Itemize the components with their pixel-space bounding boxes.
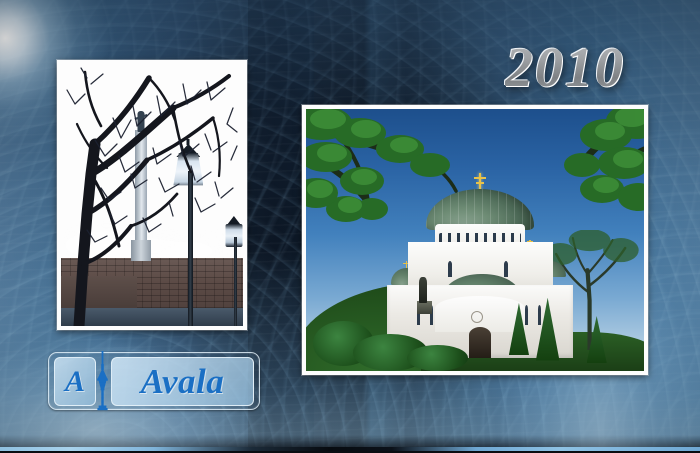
logo-mark-letter: A xyxy=(65,367,85,397)
photo-kalemegdan xyxy=(57,60,247,330)
photo-kalemegdan-image xyxy=(61,64,243,326)
avala-logo[interactable]: A Avala xyxy=(48,352,260,410)
calendar-cover-page: 2010 A xyxy=(0,0,700,453)
year-label: 2010 xyxy=(505,36,625,100)
avala-tv-tower-icon xyxy=(94,349,111,413)
photo-saint-sava-image xyxy=(306,109,644,371)
logo-wordmark: Avala xyxy=(141,364,225,399)
saint-sava-framing-foliage xyxy=(306,109,644,371)
photo-saint-sava xyxy=(302,105,648,375)
logo-wordmark-box: Avala xyxy=(111,357,254,406)
logo-mark-box: A xyxy=(54,357,96,406)
kalemegdan-bare-tree xyxy=(61,64,243,326)
